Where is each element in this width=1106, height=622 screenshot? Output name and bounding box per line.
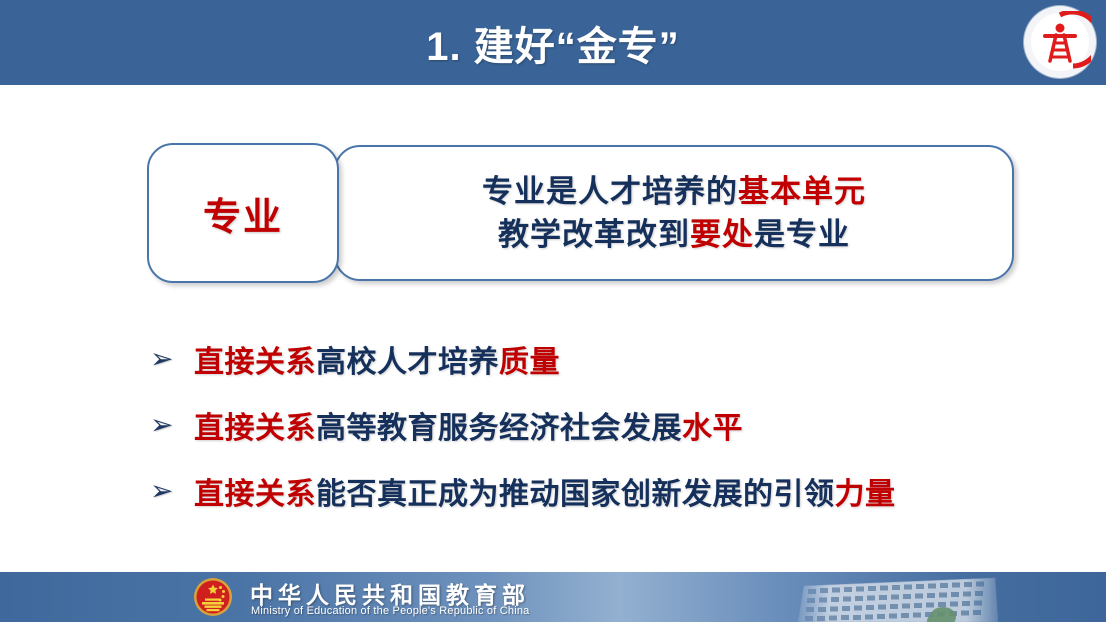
list-item: ➢ 直接关系高校人才培养质量 (150, 326, 1080, 392)
institution-logo (1024, 6, 1096, 78)
statement-line-2: 教学改革改到要处是专业 (498, 219, 850, 250)
bullet-1-seg-1: 直接关系 (194, 346, 316, 379)
list-item: ➢ 直接关系能否真正成为推动国家创新发展的引领力量 (150, 458, 1080, 524)
bullet-3-seg-3: 力量 (835, 478, 896, 511)
term-box: 专业 (147, 143, 339, 283)
statement-line-1-seg-2: 基本单元 (738, 174, 866, 209)
arrow-bullet-icon: ➢ (150, 477, 194, 505)
arrow-bullet-icon: ➢ (150, 345, 194, 373)
bullet-1-seg-2: 高校人才培养 (316, 346, 499, 379)
slide-footer-bar: 中华人民共和国教育部 Ministry of Education of the … (0, 572, 1106, 622)
institution-logo-icon (1029, 11, 1091, 73)
bullet-2-seg-3: 水平 (682, 412, 743, 445)
bullet-3-seg-1: 直接关系 (194, 478, 316, 511)
page-title: 1. 建好“金专” (0, 0, 1106, 85)
bullet-2-seg-2: 高等教育服务经济社会发展 (316, 412, 682, 445)
bullet-2-seg-1: 直接关系 (194, 412, 316, 445)
statement-line-2-seg-3: 是专业 (754, 217, 850, 252)
footer-org-name-en: Ministry of Education of the People's Re… (251, 605, 529, 617)
statement-line-1: 专业是人才培养的基本单元 (482, 176, 866, 207)
bullet-1-seg-3: 质量 (499, 346, 560, 379)
bullet-text-3: 直接关系能否真正成为推动国家创新发展的引领力量 (194, 469, 896, 513)
slide-canvas: 1. 建好“金专” 专业 专业是人才培养的基本单元 教学改革改到要处是专业 ➢ … (0, 0, 1106, 622)
bullet-text-2: 直接关系高等教育服务经济社会发展水平 (194, 403, 743, 447)
term-box-label: 专业 (203, 186, 283, 241)
bullet-text-1: 直接关系高校人才培养质量 (194, 337, 560, 381)
arrow-bullet-icon: ➢ (150, 411, 194, 439)
statement-line-2-seg-1: 教学改革改到 (498, 217, 690, 252)
statement-box: 专业是人才培养的基本单元 教学改革改到要处是专业 (334, 145, 1014, 281)
statement-line-2-seg-2: 要处 (690, 217, 754, 252)
ministry-building-illustration (790, 572, 1010, 622)
national-emblem-icon (192, 576, 234, 618)
list-item: ➢ 直接关系高等教育服务经济社会发展水平 (150, 392, 1080, 458)
national-emblem-glyph (192, 576, 234, 618)
bullet-list: ➢ 直接关系高校人才培养质量 ➢ 直接关系高等教育服务经济社会发展水平 ➢ 直接… (150, 326, 1080, 524)
statement-line-1-seg-1: 专业是人才培养的 (482, 174, 738, 209)
bullet-3-seg-2: 能否真正成为推动国家创新发展的引领 (316, 478, 835, 511)
ministry-building-photo (790, 572, 1010, 622)
